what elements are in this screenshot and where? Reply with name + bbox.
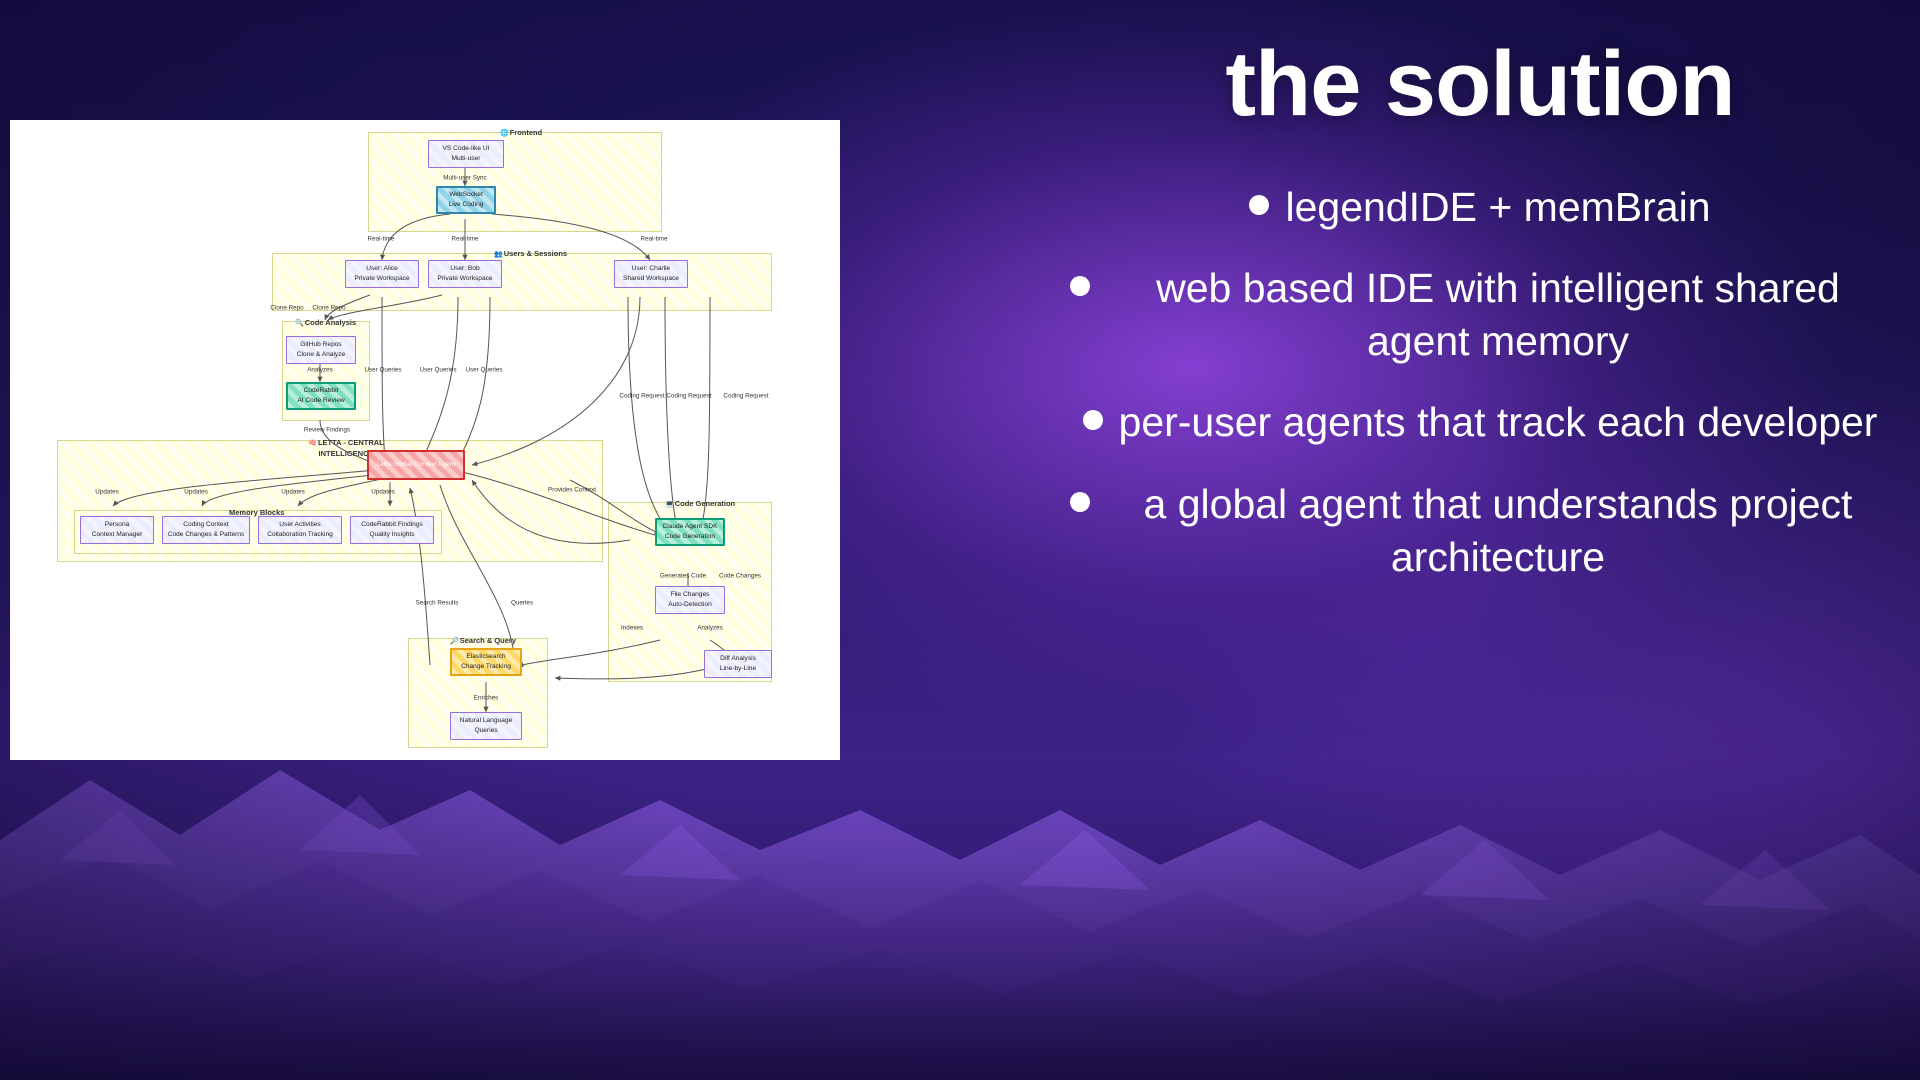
- node-natural-language-queries: Natural LanguageQueries: [450, 712, 522, 740]
- node-file-changes: File ChangesAuto-Detection: [655, 586, 725, 614]
- bullet-dot-icon: [1070, 492, 1090, 512]
- node-user-activities: User ActivitiesCollaboration Tracking: [258, 516, 342, 544]
- bullet-text: a global agent that understands project …: [1106, 478, 1890, 585]
- edge-label: Coding Request: [666, 393, 711, 400]
- slide-headline: the solution: [1225, 36, 1734, 133]
- edge-label: User Queries: [364, 367, 401, 374]
- edge-label: Review Findings: [304, 427, 350, 434]
- edge-label: Clone Repo: [270, 305, 303, 312]
- list-item: web based IDE with intelligent shared ag…: [1070, 248, 1890, 383]
- list-item: legendIDE + memBrain: [1070, 167, 1890, 248]
- node-diff-analysis: Diff AnalysisLine-by-Line: [704, 650, 772, 678]
- flowchart: 🌐Frontend 👥Users & Sessions 🔍Code Analys…: [10, 120, 840, 760]
- edge-label: Clone Repo: [312, 305, 345, 312]
- edge-label: Real-time: [368, 236, 395, 243]
- bullet-dot-icon: [1070, 276, 1090, 296]
- node-user-charlie: User: CharlieShared Workspace: [614, 260, 688, 288]
- list-item: per-user agents that track each develope…: [1070, 382, 1890, 463]
- bullet-dot-icon: [1249, 195, 1269, 215]
- edge-label: Updates: [371, 489, 394, 496]
- bullet-list: legendIDE + memBrain web based IDE with …: [1070, 167, 1890, 599]
- list-item: a global agent that understands project …: [1070, 464, 1890, 599]
- edge-label: Enriches: [474, 695, 499, 702]
- bullet-text: per-user agents that track each develope…: [1119, 396, 1878, 449]
- node-coderabbit-findings: CodeRabbit FindingsQuality Insights: [350, 516, 434, 544]
- bullet-text: web based IDE with intelligent shared ag…: [1106, 262, 1890, 369]
- edge-label: Generates Code: [660, 573, 706, 580]
- edge-label: Queries: [511, 600, 533, 607]
- edge-label: Provides Context: [548, 487, 596, 494]
- node-persona: PersonaContext Manager: [80, 516, 154, 544]
- edge-label: Coding Request: [619, 393, 664, 400]
- node-coding-context: Coding ContextCode Changes & Patterns: [162, 516, 250, 544]
- edge-label: Analyzes: [697, 625, 723, 632]
- edge-label: Indexes: [621, 625, 643, 632]
- node-websocket: WebSocketLive Coding: [436, 186, 496, 214]
- slide-text-column: the solution legendIDE + memBrain web ba…: [1040, 0, 1920, 1080]
- architecture-diagram-canvas: 🌐Frontend 👥Users & Sessions 🔍Code Analys…: [10, 120, 840, 760]
- node-user-bob: User: BobPrivate Workspace: [428, 260, 502, 288]
- edge-label: Updates: [184, 489, 207, 496]
- edge-label: Updates: [281, 489, 304, 496]
- node-coderabbit: CodeRabbitAI Code Review: [286, 382, 356, 410]
- node-letta-global-agent: Letta Global Context Agent: [367, 450, 465, 480]
- bullet-dot-icon: [1083, 410, 1103, 430]
- node-vscode-ui: VS Code-like UIMulti-user: [428, 140, 504, 168]
- node-claude-agent-sdk: Claude Agent SDKCode Generation: [655, 518, 725, 546]
- edge-label: Real-time: [452, 236, 479, 243]
- edge-label: Updates: [95, 489, 118, 496]
- edge-label: Real-time: [641, 236, 668, 243]
- edge-label: Search Results: [416, 600, 459, 607]
- bullet-text: legendIDE + memBrain: [1285, 181, 1710, 234]
- edge-label: Multi-user Sync: [443, 175, 486, 182]
- edge-label: User Queries: [465, 367, 502, 374]
- edge-label: User Queries: [419, 367, 456, 374]
- node-elasticsearch: ElasticsearchChange Tracking: [450, 648, 522, 676]
- edge-label: Analyzes: [307, 367, 333, 374]
- node-github-repos: GitHub ReposClone & Analyze: [286, 336, 356, 364]
- edge-label: Coding Request: [723, 393, 768, 400]
- node-user-alice: User: AlicePrivate Workspace: [345, 260, 419, 288]
- edge-label: Code Changes: [719, 573, 761, 580]
